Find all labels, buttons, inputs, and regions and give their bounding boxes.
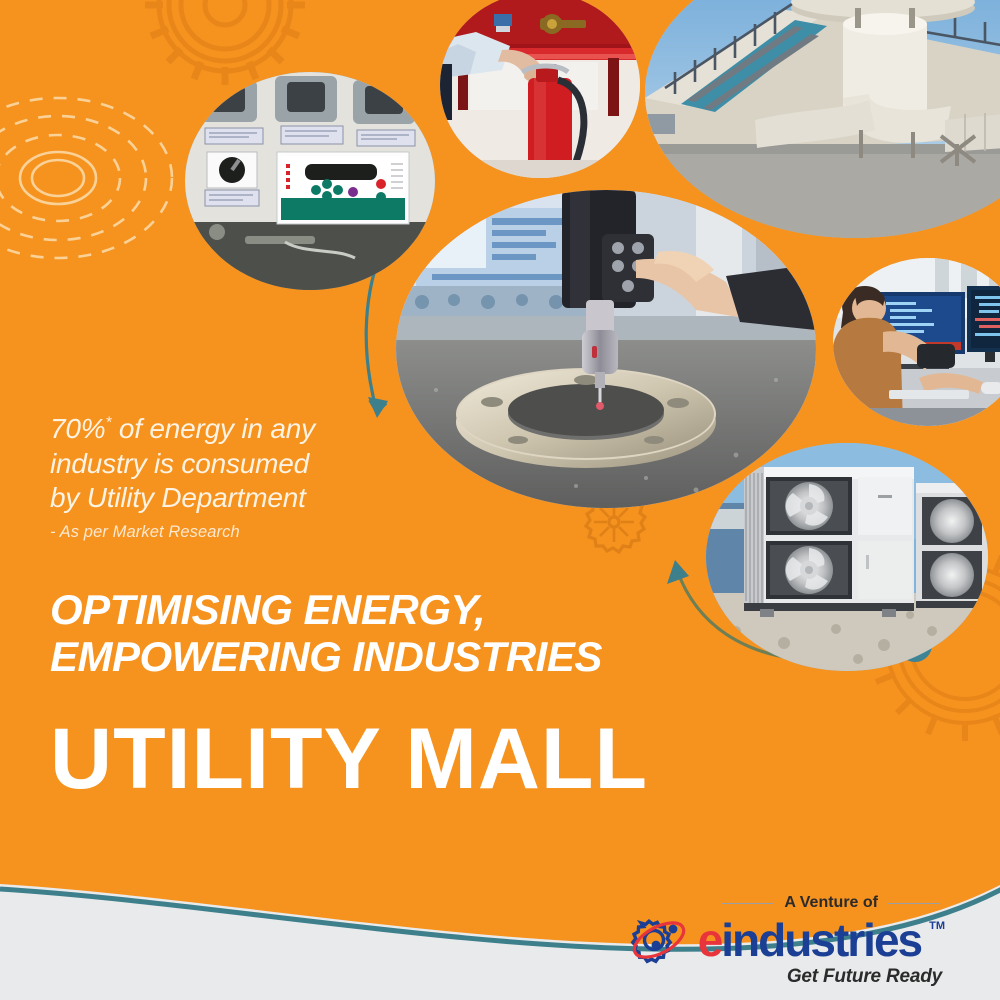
- stat-line-1: 70%* of energy in any: [50, 412, 450, 447]
- orbit-dot-upper-icon: [668, 925, 677, 934]
- stat-block: 70%* of energy in any industry is consum…: [50, 412, 450, 543]
- logo-e: e: [698, 914, 722, 966]
- gear-orbit-logo-icon: [628, 914, 690, 966]
- tagline-line-1: OPTIMISING ENERGY,: [50, 586, 750, 633]
- trademark-mark: TM: [929, 920, 945, 932]
- tagline-block: OPTIMISING ENERGY, EMPOWERING INDUSTRIES: [50, 586, 750, 681]
- stat-line-3: by Utility Department: [50, 481, 450, 516]
- orbit-dot-lower-icon: [651, 941, 660, 950]
- stat-number: 70%: [50, 413, 105, 444]
- footer: A Venture of eindustries TM Get Future R…: [0, 880, 1000, 1000]
- venture-label-row: A Venture of: [722, 894, 940, 912]
- tagline-line-2: EMPOWERING INDUSTRIES: [50, 633, 750, 680]
- photo-fire-extinguisher-inspection: [440, 0, 640, 178]
- stat-line-2: industry is consumed: [50, 447, 450, 482]
- logo-slogan: Get Future Ready: [787, 966, 942, 988]
- logo-industries: industries: [721, 914, 921, 966]
- page-title: UTILITY MALL: [50, 716, 648, 802]
- stat-line-1-rest: of energy in any: [111, 413, 315, 444]
- venture-rule-left: [722, 903, 774, 904]
- poster-canvas: 70%* of energy in any industry is consum…: [0, 0, 1000, 1000]
- logo-wordmark: eindustries: [698, 917, 921, 963]
- venture-rule-right: [888, 903, 940, 904]
- eindustries-logo[interactable]: eindustries TM: [628, 914, 945, 966]
- venture-label: A Venture of: [784, 894, 878, 912]
- stat-source: - As per Market Research: [50, 522, 450, 542]
- photo-engineer-dual-monitors: [833, 258, 1000, 426]
